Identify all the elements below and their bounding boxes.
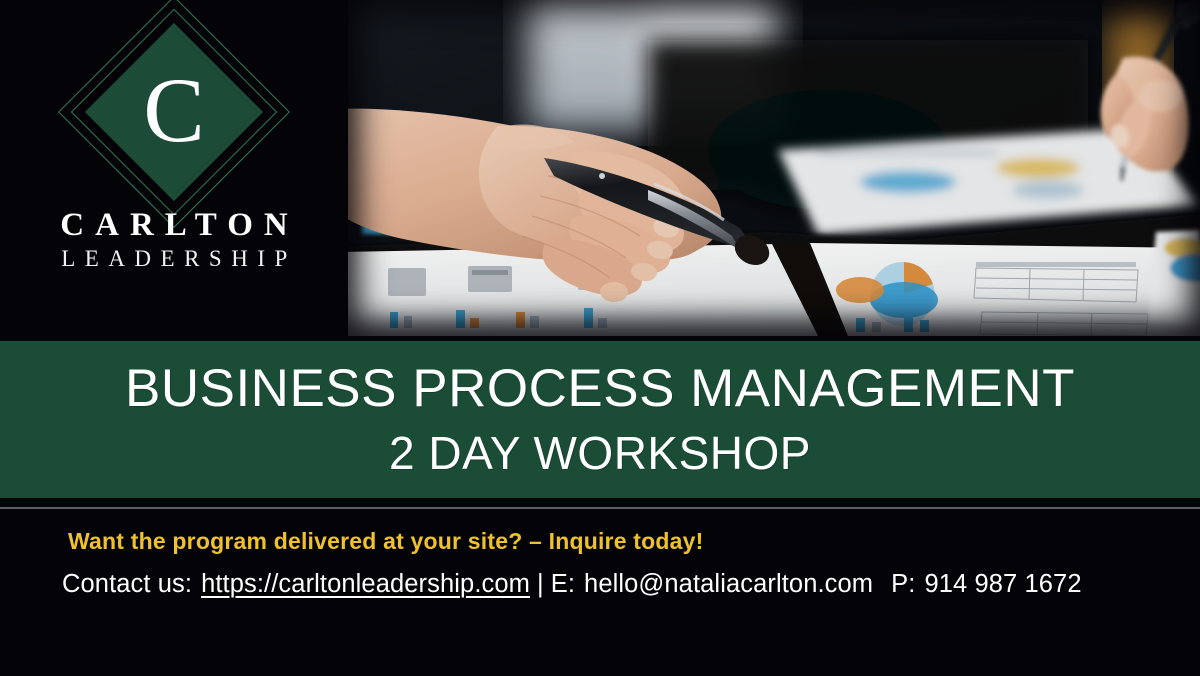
phone-number[interactable]: 914 987 1672 <box>924 570 1081 598</box>
hero-photo-illustration <box>348 0 1200 336</box>
logo-monogram-letter: C <box>88 26 260 198</box>
hero-photo <box>348 0 1200 336</box>
phone-label: P: <box>891 570 915 598</box>
brand-wordmark: CARLTON LEADERSHIP <box>0 208 348 274</box>
brand-name-secondary: LEADERSHIP <box>0 243 348 274</box>
inquiry-tagline: Want the program delivered at your site?… <box>68 528 704 555</box>
event-title: BUSINESS PROCESS MANAGEMENT <box>125 362 1075 416</box>
brand-name-primary: CARLTON <box>0 208 348 243</box>
poster-canvas: C CARLTON LEADERSHIP <box>0 0 1200 676</box>
email-label: E: <box>551 570 575 598</box>
contact-line: Contact us:https://carltonleadership.com… <box>62 570 1082 599</box>
event-title-banner: BUSINESS PROCESS MANAGEMENT 2 DAY WORKSH… <box>0 341 1200 498</box>
banner-divider-rule <box>0 507 1200 509</box>
diamond-logo-icon: C <box>88 26 260 198</box>
event-subtitle: 2 DAY WORKSHOP <box>389 430 811 477</box>
contact-prefix-label: Contact us: <box>62 570 192 598</box>
website-link[interactable]: https://carltonleadership.com <box>201 570 530 598</box>
contact-divider: | <box>530 570 551 599</box>
brand-logo-block: C CARLTON LEADERSHIP <box>0 0 348 336</box>
email-address[interactable]: hello@nataliacarlton.com <box>584 570 873 598</box>
footer-section: Want the program delivered at your site?… <box>0 510 1200 676</box>
top-section: C CARLTON LEADERSHIP <box>0 0 1200 336</box>
